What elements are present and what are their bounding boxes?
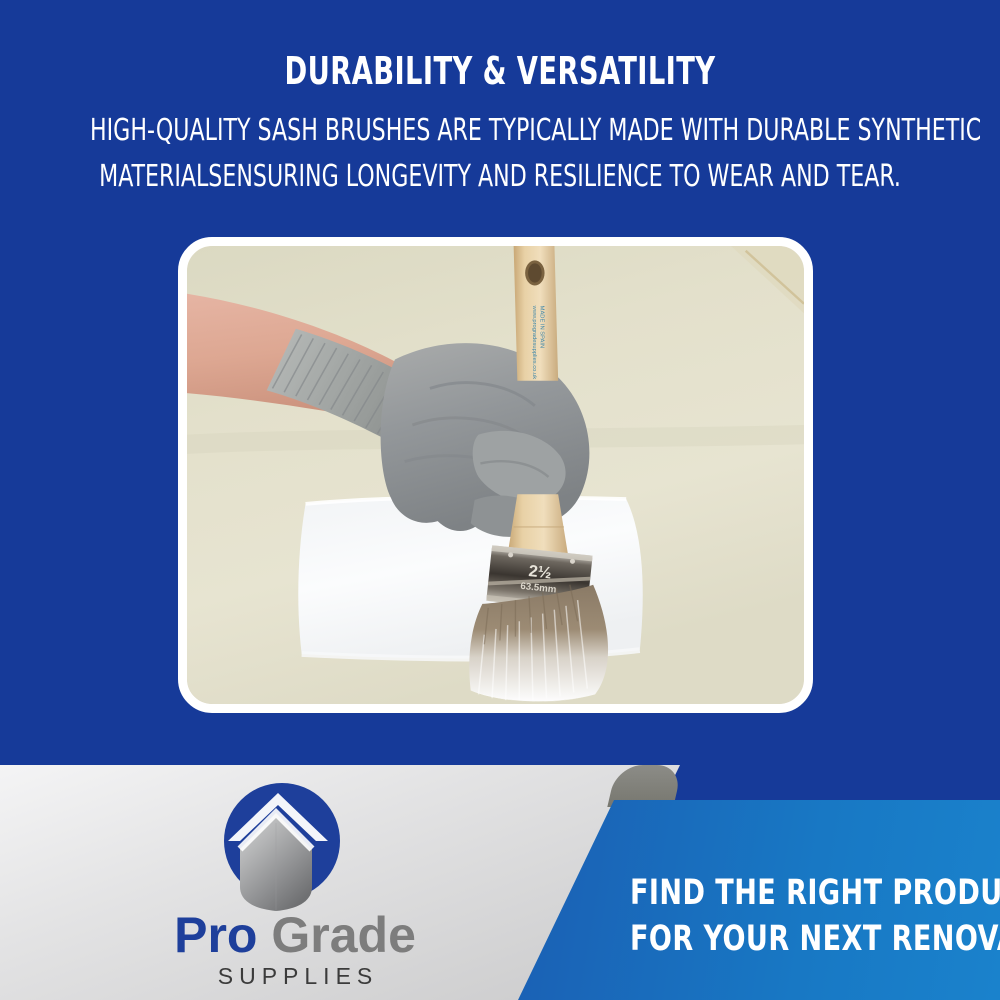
- product-photo: MADE IN SPAIN www.progradesupplies.co.uk: [187, 246, 804, 704]
- wordmark-pro: Pro: [174, 907, 257, 963]
- pro-grade-circle-house-logo-icon: [212, 779, 344, 911]
- subtitle-line-1: HIGH-QUALITY SASH BRUSHES ARE TYPICALLY …: [90, 108, 910, 154]
- cta-text-block: FIND THE RIGHT PRODUCT FOR YOUR NEXT REN…: [630, 870, 990, 962]
- wordmark-grade: Grade: [271, 907, 416, 963]
- svg-text:www.progradesupplies.co.uk: www.progradesupplies.co.uk: [531, 305, 537, 380]
- header-section: DURABILITY & VERSATILITY HIGH-QUALITY SA…: [0, 0, 1000, 215]
- subtitle-line-2: MATERIALSENSURING LONGEVITY AND RESILIEN…: [90, 154, 910, 200]
- page-title: DURABILITY & VERSATILITY: [100, 50, 900, 92]
- brand-tagline: SUPPLIES: [150, 963, 440, 990]
- cta-line-2: FOR YOUR NEXT RENOVATION: [630, 916, 940, 962]
- promo-poster: DURABILITY & VERSATILITY HIGH-QUALITY SA…: [0, 0, 1000, 1000]
- svg-text:MADE IN SPAIN: MADE IN SPAIN: [539, 306, 545, 349]
- product-photo-card: MADE IN SPAIN www.progradesupplies.co.uk: [178, 237, 813, 713]
- brand-wordmark: Pro Grade: [150, 907, 440, 963]
- brand-logo[interactable]: Pro Grade SUPPLIES: [150, 779, 440, 991]
- paintbrush-photo-illustration: MADE IN SPAIN www.progradesupplies.co.uk: [187, 246, 804, 704]
- cta-line-1: FIND THE RIGHT PRODUCT: [630, 870, 940, 916]
- header-subtitle: HIGH-QUALITY SASH BRUSHES ARE TYPICALLY …: [0, 108, 1000, 200]
- svg-text:2½: 2½: [528, 562, 553, 582]
- footer-section: Pro Grade SUPPLIES FIND THE RIGHT PRODUC…: [0, 765, 1000, 1000]
